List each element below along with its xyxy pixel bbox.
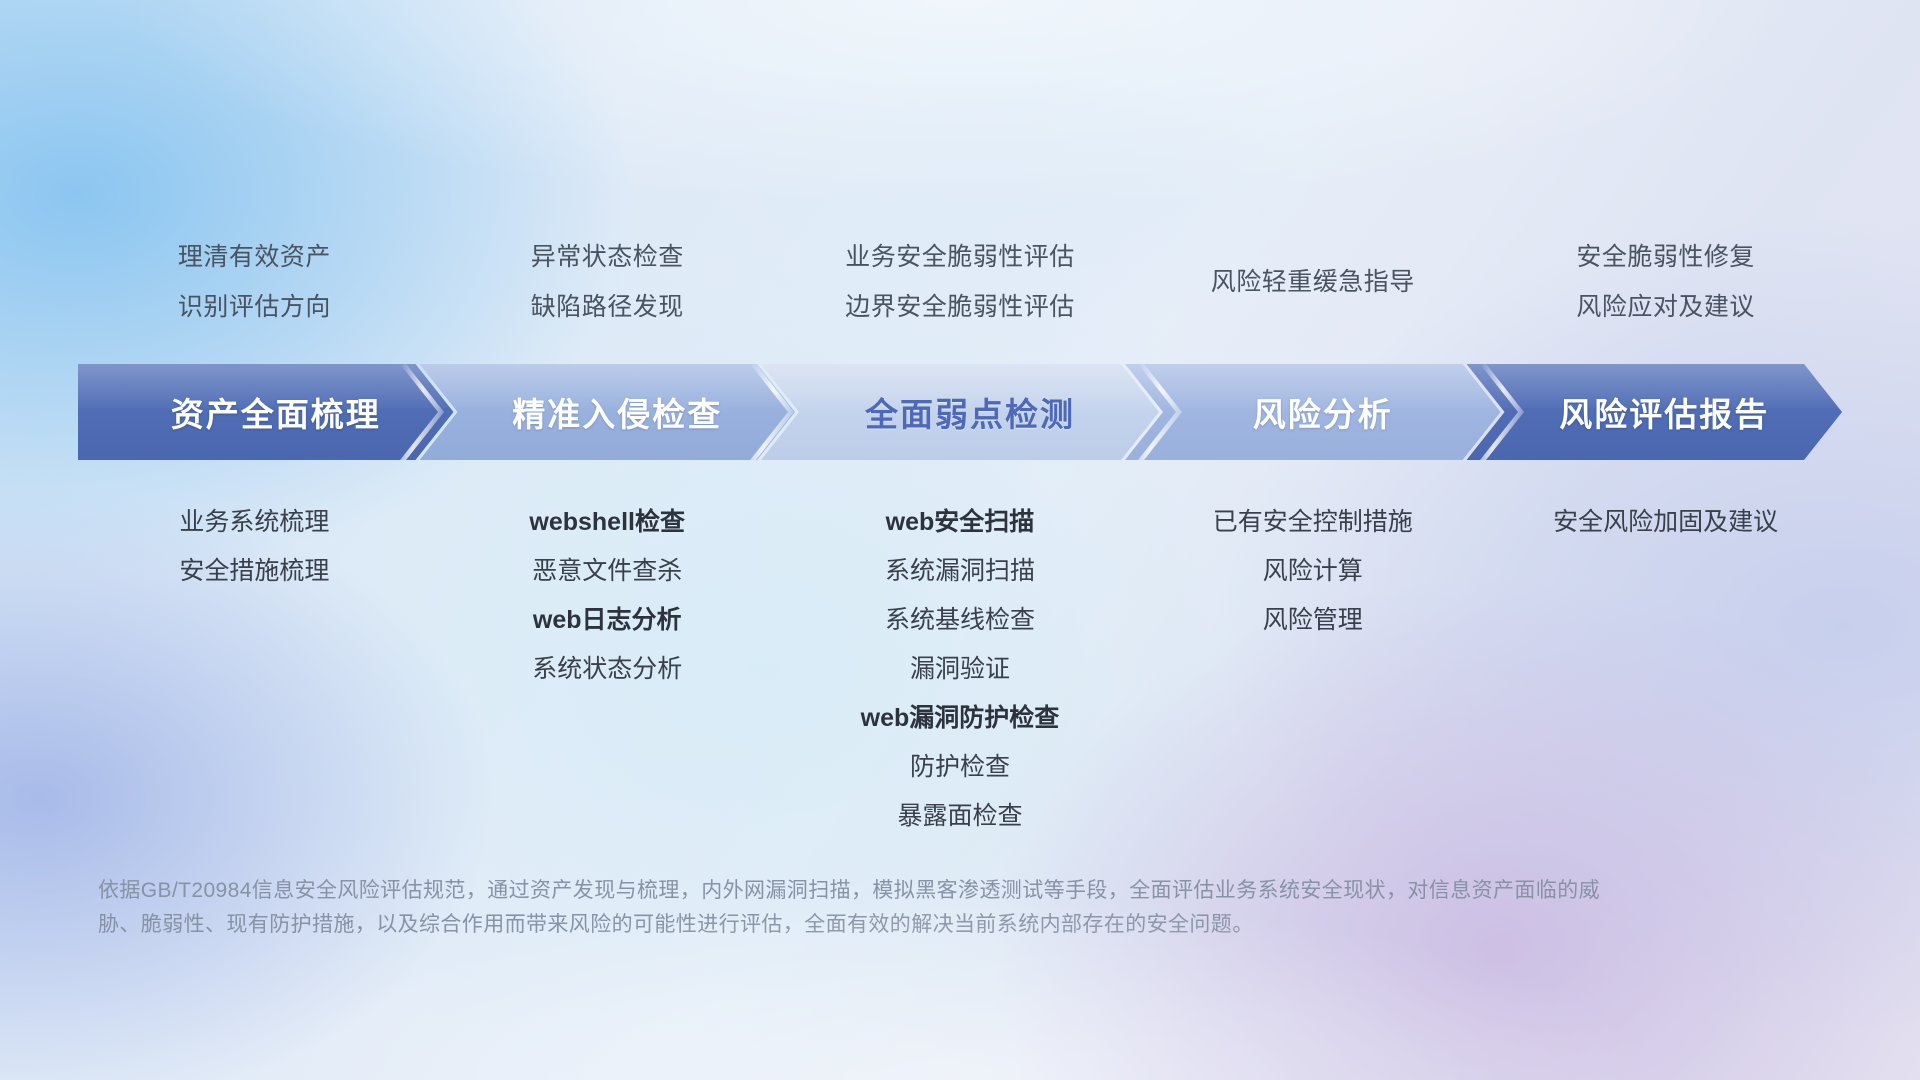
- list-item: 恶意文件查杀: [431, 547, 784, 596]
- top-captions-report: 安全脆弱性修复 风险应对及建议: [1489, 232, 1842, 332]
- stage-arrow-weakness[interactable]: 全面弱点检测: [761, 364, 1159, 460]
- list-item: 风险管理: [1136, 596, 1489, 645]
- slide-canvas: 理清有效资产 识别评估方向 异常状态检查 缺陷路径发现 业务安全脆弱性评估 边界…: [0, 0, 1920, 1080]
- footer-description: 依据GB/T20984信息安全风险评估规范，通过资产发现与梳理，内外网漏洞扫描，…: [98, 874, 1638, 942]
- bottom-list-row: 业务系统梳理 安全措施梳理 webshell检查 恶意文件查杀 web日志分析 …: [78, 498, 1842, 841]
- top-caption: 异常状态检查: [431, 232, 784, 282]
- top-caption: 识别评估方向: [78, 282, 431, 332]
- stage-arrow-risk-analysis[interactable]: 风险分析: [1125, 364, 1501, 460]
- top-captions-asset: 理清有效资产 识别评估方向: [78, 232, 431, 332]
- stage-arrow-asset[interactable]: 资产全面梳理: [78, 364, 454, 460]
- list-item: 系统漏洞扫描: [784, 547, 1137, 596]
- list-item: 暴露面检查: [784, 792, 1137, 841]
- list-item: webshell检查: [431, 498, 784, 547]
- top-captions-weakness: 业务安全脆弱性评估 边界安全脆弱性评估: [784, 232, 1137, 332]
- process-arrow-band: 资产全面梳理 精准入侵检查 全面弱点检测 风险分析 风险评估报告: [78, 364, 1842, 460]
- top-caption: 风险轻重缓急指导: [1136, 232, 1489, 332]
- top-captions-intrusion: 异常状态检查 缺陷路径发现: [431, 232, 784, 332]
- stage-label: 风险分析: [1253, 388, 1393, 436]
- list-item: 系统状态分析: [431, 645, 784, 694]
- bottom-list-risk-analysis: 已有安全控制措施 风险计算 风险管理: [1136, 498, 1489, 645]
- list-item: web安全扫描: [784, 498, 1137, 547]
- stage-label: 资产全面梳理: [171, 388, 381, 436]
- list-item: 安全风险加固及建议: [1489, 498, 1842, 547]
- top-caption: 风险应对及建议: [1489, 282, 1842, 332]
- list-item: 风险计算: [1136, 547, 1489, 596]
- list-item: 系统基线检查: [784, 596, 1137, 645]
- list-item: 漏洞验证: [784, 645, 1137, 694]
- list-item: 安全措施梳理: [78, 547, 431, 596]
- top-caption: 理清有效资产: [78, 232, 431, 282]
- top-caption: 缺陷路径发现: [431, 282, 784, 332]
- list-item: 业务系统梳理: [78, 498, 431, 547]
- bottom-list-report: 安全风险加固及建议: [1489, 498, 1842, 547]
- list-item: web漏洞防护检查: [784, 694, 1137, 743]
- top-caption: 业务安全脆弱性评估: [784, 232, 1137, 282]
- top-caption-row: 理清有效资产 识别评估方向 异常状态检查 缺陷路径发现 业务安全脆弱性评估 边界…: [78, 232, 1842, 332]
- top-captions-risk-analysis: 风险轻重缓急指导: [1136, 232, 1489, 332]
- top-caption: 边界安全脆弱性评估: [784, 282, 1137, 332]
- stage-label: 精准入侵检查: [512, 388, 722, 436]
- stage-label: 风险评估报告: [1559, 388, 1769, 436]
- bottom-list-weakness: web安全扫描 系统漏洞扫描 系统基线检查 漏洞验证 web漏洞防护检查 防护检…: [784, 498, 1137, 841]
- top-caption: 安全脆弱性修复: [1489, 232, 1842, 282]
- stage-arrow-report[interactable]: 风险评估报告: [1467, 364, 1843, 460]
- list-item: 防护检查: [784, 743, 1137, 792]
- list-item: web日志分析: [431, 596, 784, 645]
- stage-label: 全面弱点检测: [865, 388, 1075, 436]
- bottom-list-intrusion: webshell检查 恶意文件查杀 web日志分析 系统状态分析: [431, 498, 784, 694]
- bottom-list-asset: 业务系统梳理 安全措施梳理: [78, 498, 431, 596]
- list-item: 已有安全控制措施: [1136, 498, 1489, 547]
- stage-arrow-intrusion[interactable]: 精准入侵检查: [420, 364, 796, 460]
